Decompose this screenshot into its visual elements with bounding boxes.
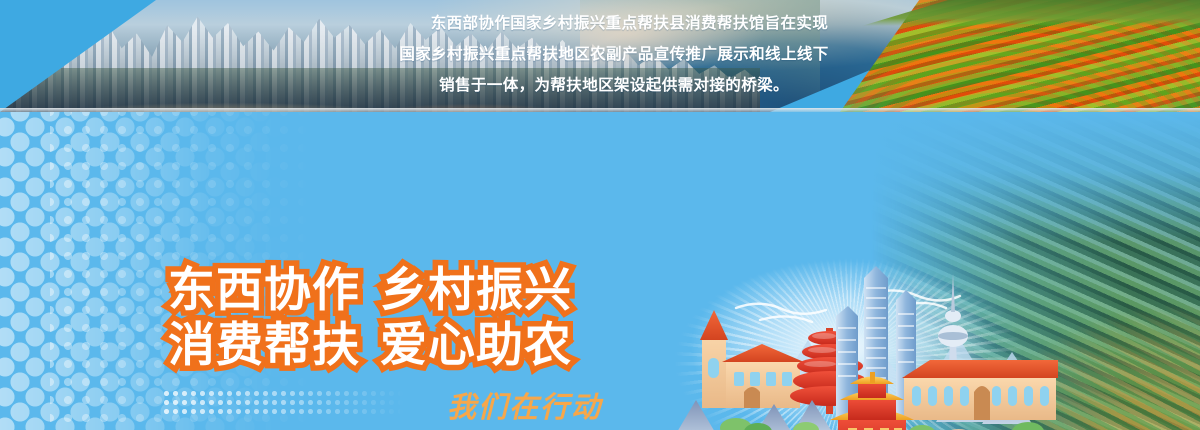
banner-intro-paragraph: 东西部协作国家乡村振兴重点帮扶县消费帮扶馆旨在实现 国家乡村振兴重点帮扶地区农副… bbox=[358, 8, 870, 101]
banner-body: 东西协作乡村振兴 消费帮扶爱心助农 我们在行动 为购买来自国家乡村振兴重点帮扶地… bbox=[0, 112, 1200, 430]
headline-2-right: 爱心助农 bbox=[380, 318, 572, 371]
promo-banner: 东西部协作国家乡村振兴重点帮扶县消费帮扶馆旨在实现 国家乡村振兴重点帮扶地区农副… bbox=[0, 0, 1200, 430]
banner-line-2: 国家乡村振兴重点帮扶地区农副产品宣传推广展示和线上线下 bbox=[358, 39, 870, 70]
headline-1-left: 东西协作 bbox=[168, 263, 360, 316]
church-building bbox=[700, 310, 804, 408]
banner-line-1: 东西部协作国家乡村振兴重点帮扶县消费帮扶馆旨在实现 bbox=[431, 15, 829, 32]
chinese-landmarks-cityscape-illustration bbox=[640, 232, 1060, 430]
right-sky-overlay bbox=[870, 112, 1200, 242]
landmarks-svg bbox=[640, 232, 1060, 430]
top-banner-strip: 东西部协作国家乡村振兴重点帮扶县消费帮扶馆旨在实现 国家乡村振兴重点帮扶地区农副… bbox=[0, 0, 1200, 112]
headline-2-left: 消费帮扶 bbox=[168, 318, 360, 371]
headline-line-2: 消费帮扶爱心助农 bbox=[168, 317, 598, 372]
main-headline: 东西协作乡村振兴 消费帮扶爱心助农 bbox=[168, 262, 598, 372]
headline-1-right: 乡村振兴 bbox=[380, 263, 572, 316]
headline-line-1: 东西协作乡村振兴 bbox=[168, 262, 598, 317]
action-row: 我们在行动 bbox=[162, 384, 602, 422]
banner-line-3: 销售于一体，为帮扶地区架设起供需对接的桥梁。 bbox=[358, 70, 870, 101]
action-slogan: 我们在行动 bbox=[447, 384, 602, 426]
colonnade-building bbox=[902, 360, 1058, 420]
dot-grid-decoration bbox=[162, 389, 404, 415]
